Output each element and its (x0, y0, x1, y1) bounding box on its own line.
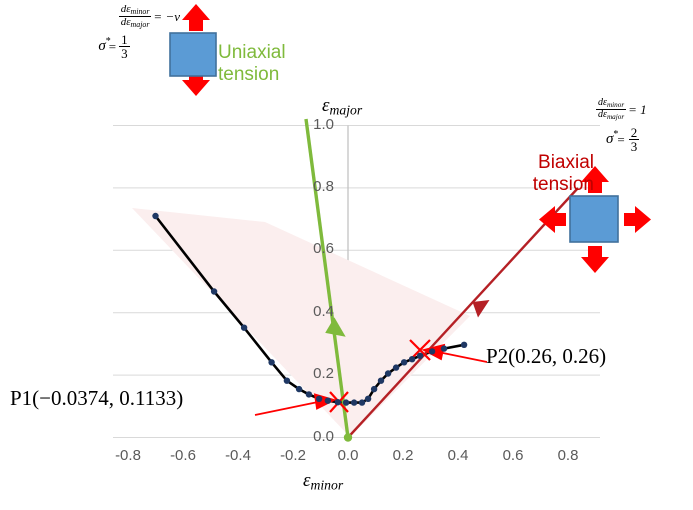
biaxial-formula: dεminor dεmajor = 1 σ* = 2 3 (596, 98, 693, 154)
uniaxial-strain-ratio: dεminor dεmajor = −ν (62, 4, 180, 30)
uniaxial-formula: dεminor dεmajor = −ν σ* = 1 3 (62, 4, 180, 61)
data-point-21 (429, 348, 435, 354)
data-point-1 (211, 288, 217, 294)
data-point-17 (393, 364, 399, 370)
x-tick--0.2: -0.2 (270, 447, 316, 464)
biaxial-stress-ratio: σ* = 2 3 (596, 126, 693, 154)
y-tick-0.4: 0.4 (300, 303, 334, 320)
biaxial-label-line1: Biaxial (512, 152, 594, 174)
data-point-19 (409, 356, 415, 362)
x-tick--0.6: -0.6 (160, 447, 206, 464)
biaxial-num-sub: minor (607, 101, 624, 109)
x-axis-symbol: ε (303, 470, 311, 491)
uniaxial-sigma-num: 1 (119, 33, 130, 48)
x-tick-0.6: 0.6 (490, 447, 536, 464)
biaxial-arrow-right (624, 206, 651, 233)
biaxial-strain-ratio: dεminor dεmajor = 1 (596, 98, 693, 122)
p1-leader-arrow (255, 395, 334, 416)
biaxial-sigma-num: 2 (629, 126, 640, 141)
data-point-16 (385, 370, 391, 376)
data-point-10 (343, 399, 349, 405)
x-tick-0.4: 0.4 (435, 447, 481, 464)
data-point-4 (284, 378, 290, 384)
data-point-6 (306, 391, 312, 397)
y-axis-symbol: ε (322, 95, 330, 116)
data-point-20 (417, 353, 423, 359)
uniaxial-arrow-up (182, 4, 210, 31)
uniaxial-sigma-den: 3 (119, 47, 130, 61)
biaxial-sigma-equals: = (617, 132, 624, 148)
data-point-12 (359, 399, 365, 405)
x-tick--0.8: -0.8 (105, 447, 151, 464)
biaxial-num: dε (598, 97, 607, 108)
uniaxial-sigma: σ* (98, 38, 105, 55)
data-point-11 (351, 399, 357, 405)
biaxial-den: dε (598, 109, 607, 120)
data-point-8 (325, 398, 331, 404)
x-tick-0.0: 0.0 (325, 447, 371, 464)
y-axis-subscript: major (330, 102, 363, 117)
forming-limit-diagram-svg (0, 0, 693, 510)
data-point-5 (296, 386, 302, 392)
uniaxial-stress-ratio: σ* = 1 3 (62, 33, 180, 61)
data-point-7 (316, 396, 322, 402)
y-tick-1.0: 1.0 (300, 116, 334, 133)
data-point-22 (441, 345, 447, 351)
x-axis-subscript: minor (311, 477, 344, 492)
x-tick-0.2: 0.2 (380, 447, 426, 464)
data-point-0 (152, 213, 158, 219)
biaxial-tension-label: Biaxial tension (512, 152, 594, 196)
data-point-13 (365, 396, 371, 402)
y-tick-0.2: 0.2 (300, 365, 334, 382)
data-point-15 (378, 378, 384, 384)
data-point-18 (401, 359, 407, 365)
x-tick-0.8: 0.8 (545, 447, 591, 464)
uniaxial-label-line1: Uniaxial (218, 42, 314, 64)
biaxial-den-sub: major (607, 113, 624, 121)
chart-canvas: dεminor dεmajor = −ν σ* = 1 3 dεminor dε… (0, 0, 693, 510)
biaxial-sigma-den: 3 (629, 140, 640, 154)
uniaxial-tension-label: Uniaxial tension (218, 42, 314, 86)
p2-annotation-label: P2(0.26, 0.26) (486, 344, 606, 369)
data-point-14 (371, 386, 377, 392)
uniaxial-label-line2: tension (218, 64, 314, 86)
data-point-3 (268, 359, 274, 365)
biaxial-label-line2: tension (512, 174, 594, 196)
p1-annotation-label: P1(−0.0374, 0.1133) (10, 386, 183, 411)
biaxial-specimen-square (570, 196, 618, 242)
x-axis-title: εminor (303, 470, 343, 493)
data-point-2 (241, 325, 247, 331)
biaxial-arrowhead (473, 300, 490, 318)
y-tick-0.0: 0.0 (300, 428, 334, 445)
uniaxial-den: dε (121, 16, 131, 28)
biaxial-ratio-equals: = 1 (628, 102, 647, 118)
y-tick-0.6: 0.6 (300, 240, 334, 257)
biaxial-arrow-left (539, 206, 566, 233)
x-tick--0.4: -0.4 (215, 447, 261, 464)
origin-marker (344, 433, 352, 441)
biaxial-sigma: σ* (606, 131, 613, 148)
data-point-9 (335, 399, 341, 405)
data-point-23 (461, 342, 467, 348)
uniaxial-ratio-equals: = −ν (153, 9, 180, 25)
uniaxial-num-sub: minor (131, 7, 150, 16)
uniaxial-num: dε (121, 3, 131, 15)
y-tick-0.8: 0.8 (300, 178, 334, 195)
uniaxial-den-sub: major (131, 20, 150, 29)
